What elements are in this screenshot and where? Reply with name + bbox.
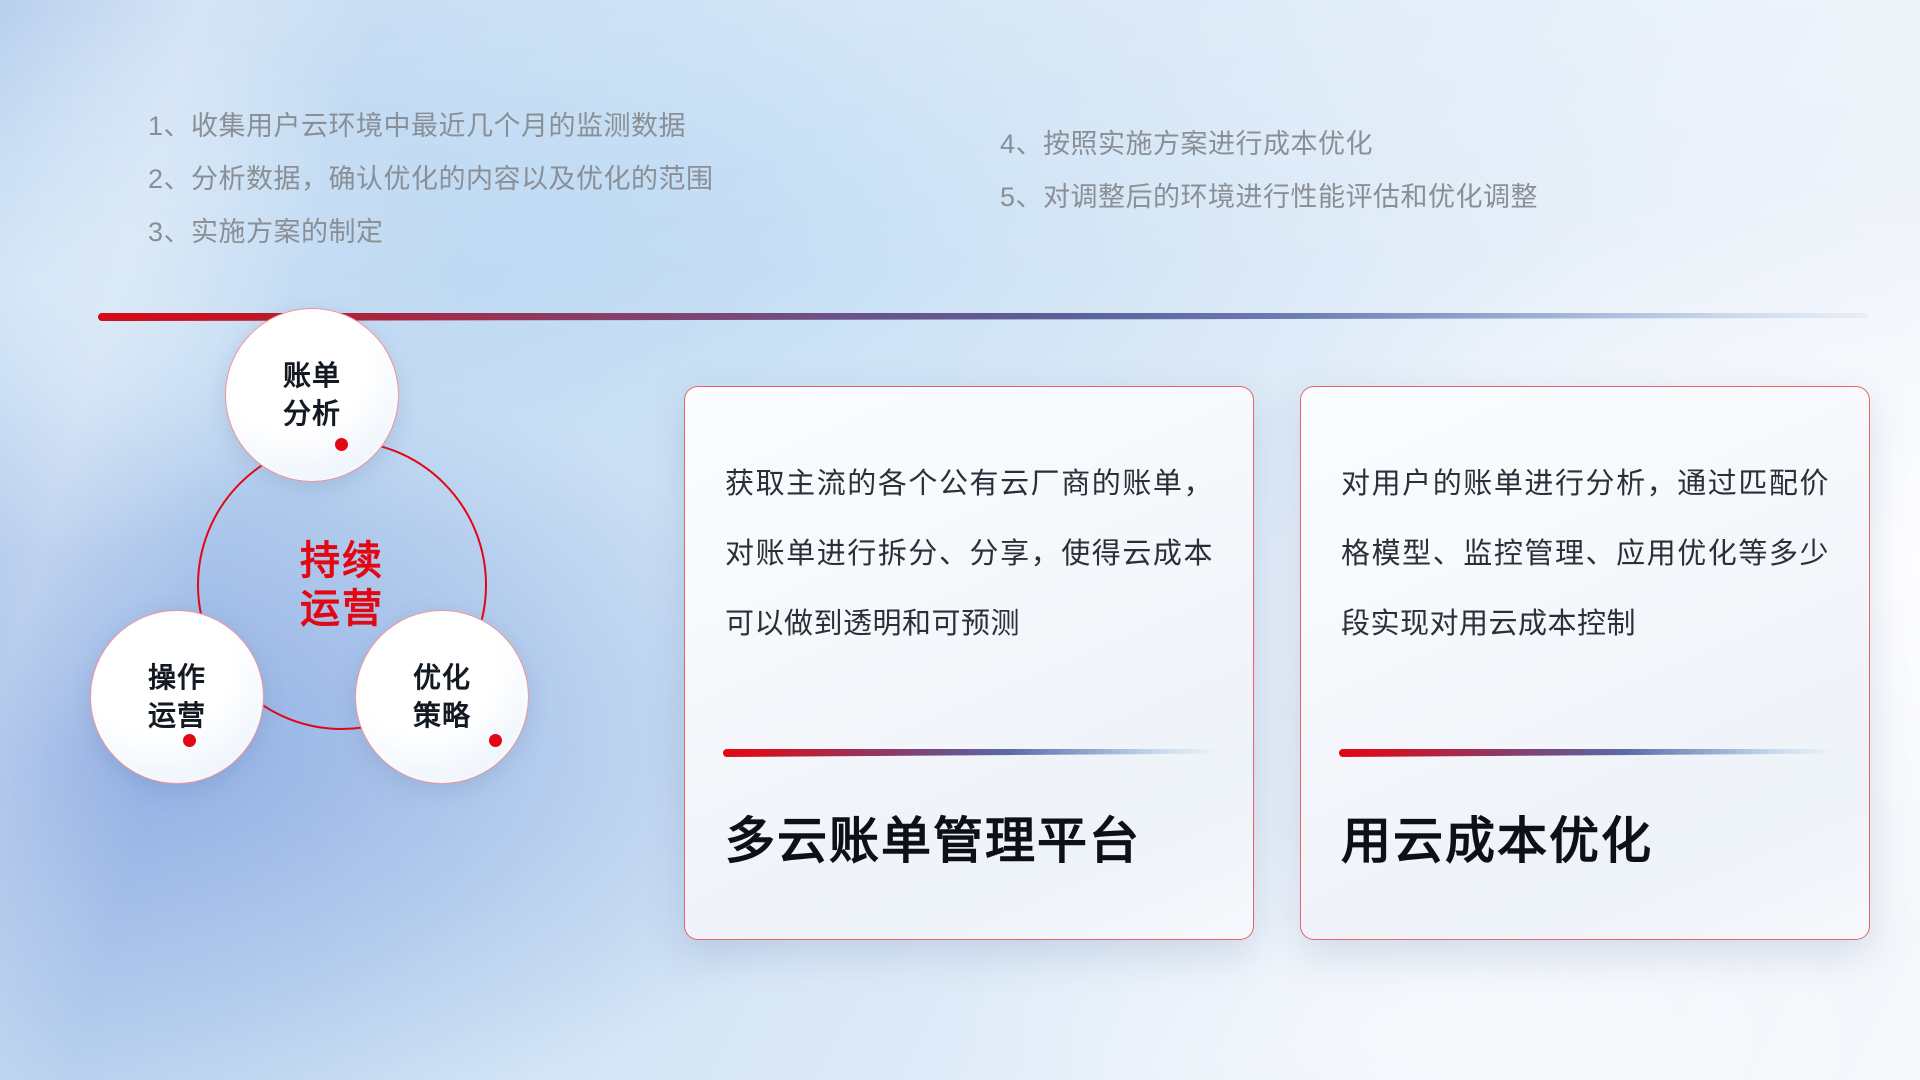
diagram-connector-dot-left (183, 734, 196, 747)
diagram-center-label-line2: 运营 (300, 587, 384, 631)
diagram-connector-dot-right (489, 734, 502, 747)
node-left-line2: 运营 (148, 700, 206, 731)
step-item-4: 4、按照实施方案进行成本优化 (1000, 118, 1538, 171)
steps-left-column: 1、收集用户云环境中最近几个月的监测数据 2、分析数据，确认优化的内容以及优化的… (148, 100, 714, 259)
diagram-node-bill-analysis-label: 账单 分析 (283, 357, 341, 433)
step-item-3: 3、实施方案的制定 (148, 206, 714, 259)
diagram-node-operations-label: 操作 运营 (148, 659, 206, 735)
node-top-line1: 账单 (283, 360, 341, 391)
node-left-line1: 操作 (148, 662, 206, 693)
diagram-connector-dot-top (335, 438, 348, 451)
diagram-center-label-line1: 持续 (300, 539, 384, 583)
card-2-accent-rule (1339, 749, 1831, 757)
step-item-1: 1、收集用户云环境中最近几个月的监测数据 (148, 100, 714, 153)
card-1-title: 多云账单管理平台 (725, 801, 1223, 873)
card-cloud-cost-optimization[interactable]: 对用户的账单进行分析，通过匹配价格模型、监控管理、应用优化等多少段实现对用云成本… (1300, 386, 1870, 940)
card-1-body: 获取主流的各个公有云厂商的账单，对账单进行拆分、分享，使得云成本可以做到透明和可… (725, 449, 1213, 659)
diagram-node-optimization-strategy[interactable]: 优化 策略 (355, 610, 529, 784)
card-2-body: 对用户的账单进行分析，通过匹配价格模型、监控管理、应用优化等多少段实现对用云成本… (1341, 449, 1829, 659)
diagram-node-bill-analysis[interactable]: 账单 分析 (225, 308, 399, 482)
steps-section: 1、收集用户云环境中最近几个月的监测数据 2、分析数据，确认优化的内容以及优化的… (0, 0, 1920, 260)
card-multicloud-billing-platform[interactable]: 获取主流的各个公有云厂商的账单，对账单进行拆分、分享，使得云成本可以做到透明和可… (684, 386, 1254, 940)
card-1-accent-rule (723, 749, 1215, 757)
node-right-line1: 优化 (413, 662, 471, 693)
continuous-operation-diagram: 持续 运营 账单 分析 操作 运营 优化 策略 (80, 330, 600, 970)
step-item-2: 2、分析数据，确认优化的内容以及优化的范围 (148, 153, 714, 206)
card-2-title: 用云成本优化 (1341, 801, 1839, 873)
steps-right-column: 4、按照实施方案进行成本优化 5、对调整后的环境进行性能评估和优化调整 (1000, 118, 1538, 224)
diagram-node-operations[interactable]: 操作 运营 (90, 610, 264, 784)
node-top-line2: 分析 (283, 398, 341, 429)
diagram-node-optimization-strategy-label: 优化 策略 (413, 659, 471, 735)
node-right-line2: 策略 (413, 700, 471, 731)
step-item-5: 5、对调整后的环境进行性能评估和优化调整 (1000, 171, 1538, 224)
